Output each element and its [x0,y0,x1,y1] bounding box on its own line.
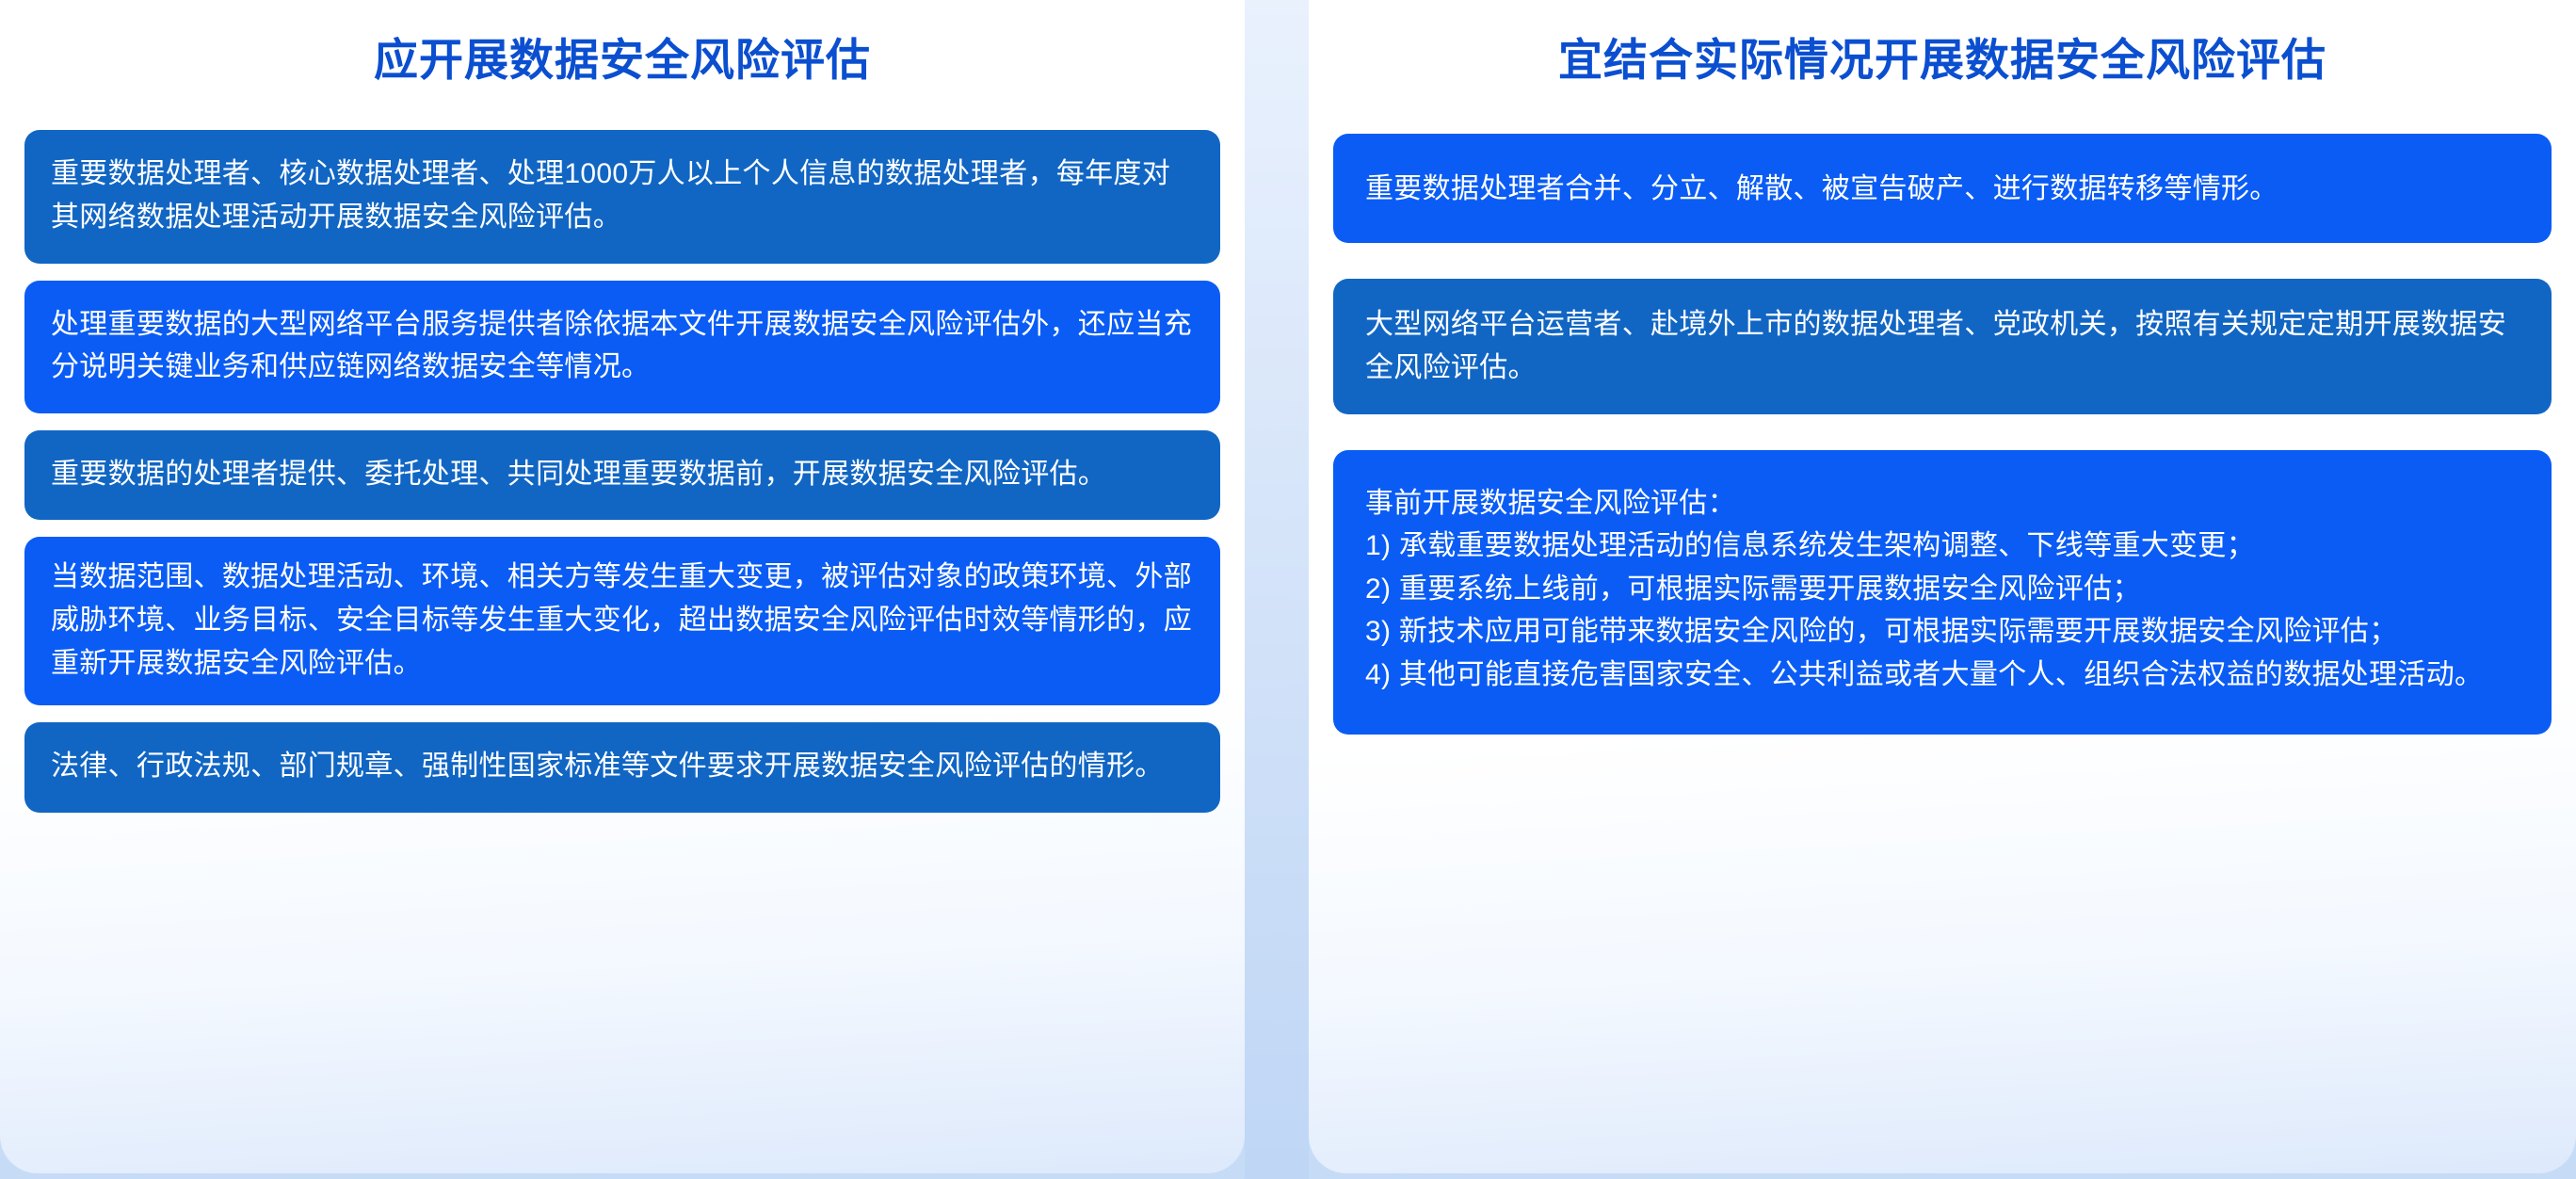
left-card-1: 重要数据处理者、核心数据处理者、处理1000万人以上个人信息的数据处理者，每年度… [24,130,1220,263]
left-card-1-text: 重要数据处理者、核心数据处理者、处理1000万人以上个人信息的数据处理者，每年度… [51,153,1194,238]
left-card-list: 重要数据处理者、核心数据处理者、处理1000万人以上个人信息的数据处理者，每年度… [24,130,1220,812]
left-card-3: 重要数据的处理者提供、委托处理、共同处理重要数据前，开展数据安全风险评估。 [24,430,1220,521]
right-card-3-line-5: 4) 其他可能直接危害国家安全、公共利益或者大量个人、组织合法权益的数据处理活动… [1365,654,2520,697]
right-card-2: 大型网络平台运营者、赴境外上市的数据处理者、党政机关，按照有关规定定期开展数据安… [1333,279,2552,413]
right-card-1-text: 重要数据处理者合并、分立、解散、被宣告破产、进行数据转移等情形。 [1365,168,2520,211]
right-card-3-line-3: 2) 重要系统上线前，可根据实际需要开展数据安全风险评估； [1365,568,2520,611]
right-card-1: 重要数据处理者合并、分立、解散、被宣告破产、进行数据转移等情形。 [1333,134,2552,243]
left-panel-title: 应开展数据安全风险评估 [24,0,1220,87]
infographic-stage: 应开展数据安全风险评估 重要数据处理者、核心数据处理者、处理1000万人以上个人… [0,0,2576,1179]
left-card-2: 处理重要数据的大型网络平台服务提供者除依据本文件开展数据安全风险评估外，还应当充… [24,281,1220,413]
right-card-3-lines: 事前开展数据安全风险评估： 1) 承载重要数据处理活动的信息系统发生架构调整、下… [1365,482,2520,697]
right-card-3-line-2: 1) 承载重要数据处理活动的信息系统发生架构调整、下线等重大变更； [1365,525,2520,568]
left-card-2-text: 处理重要数据的大型网络平台服务提供者除依据本文件开展数据安全风险评估外，还应当充… [51,303,1194,389]
left-card-5: 法律、行政法规、部门规章、强制性国家标准等文件要求开展数据安全风险评估的情形。 [24,722,1220,813]
right-card-3-line-4: 3) 新技术应用可能带来数据安全风险的，可根据实际需要开展数据安全风险评估； [1365,610,2520,654]
right-card-list: 重要数据处理者合并、分立、解散、被宣告破产、进行数据转移等情形。 大型网络平台运… [1333,134,2552,734]
right-panel: 宜结合实际情况开展数据安全风险评估 重要数据处理者合并、分立、解散、被宣告破产、… [1309,0,2576,1173]
left-card-4: 当数据范围、数据处理活动、环境、相关方等发生重大变更，被评估对象的政策环境、外部… [24,537,1220,705]
right-card-3-line-1: 事前开展数据安全风险评估： [1365,482,2520,525]
left-card-4-text: 当数据范围、数据处理活动、环境、相关方等发生重大变更，被评估对象的政策环境、外部… [51,556,1194,685]
right-card-2-text: 大型网络平台运营者、赴境外上市的数据处理者、党政机关，按照有关规定定期开展数据安… [1365,303,2520,389]
left-panel: 应开展数据安全风险评估 重要数据处理者、核心数据处理者、处理1000万人以上个人… [0,0,1245,1173]
panel-divider-gap [1245,0,1309,1179]
left-card-3-text: 重要数据的处理者提供、委托处理、共同处理重要数据前，开展数据安全风险评估。 [51,453,1194,496]
left-card-5-text: 法律、行政法规、部门规章、强制性国家标准等文件要求开展数据安全风险评估的情形。 [51,745,1194,788]
right-panel-title: 宜结合实际情况开展数据安全风险评估 [1333,0,2552,87]
right-card-3: 事前开展数据安全风险评估： 1) 承载重要数据处理活动的信息系统发生架构调整、下… [1333,450,2552,735]
